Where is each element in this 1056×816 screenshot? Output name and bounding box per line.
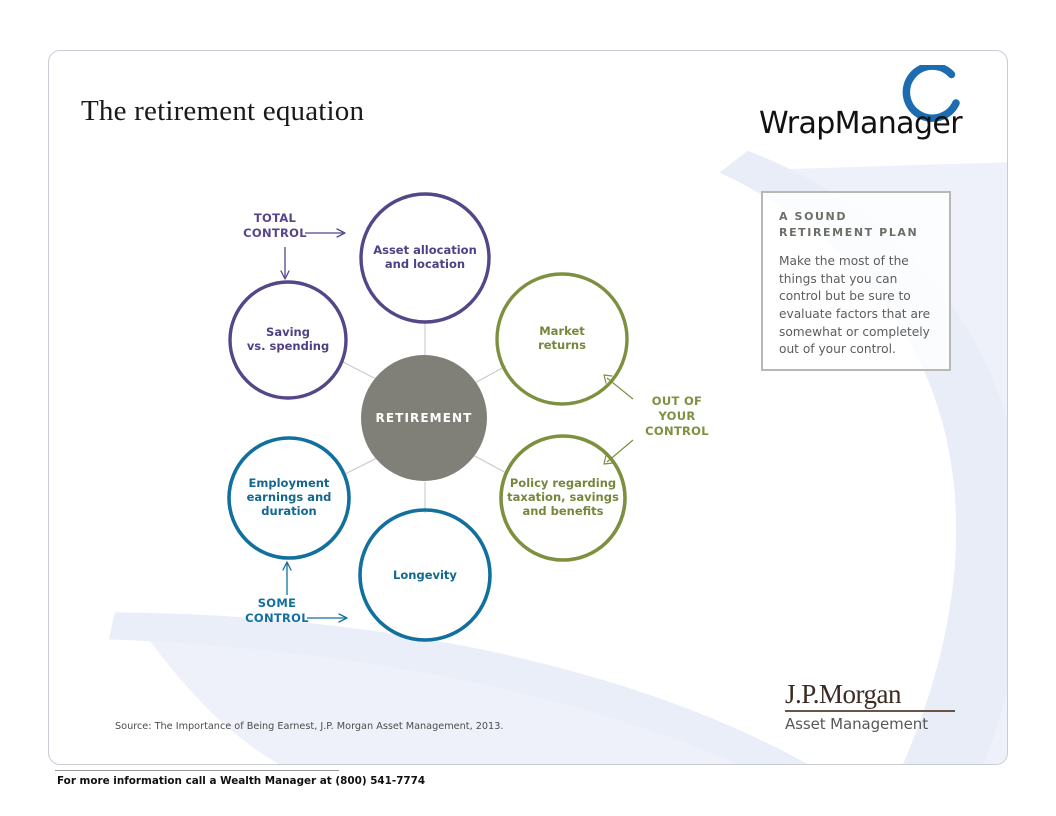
source-note: Source: The Importance of Being Earnest,… (115, 721, 503, 732)
node-circle-employment-earnings[interactable] (229, 438, 349, 558)
jpmorgan-wordmark: J.P.Morgan (785, 681, 955, 712)
connector-policy (473, 455, 508, 474)
node-circle-saving-vs-spending[interactable] (230, 282, 346, 398)
jpmorgan-logo: J.P.Morgan Asset Management (785, 681, 955, 734)
control-label-total-control: TOTAL CONTROL (225, 211, 325, 241)
callout-title: A SOUND RETIREMENT PLAN (779, 209, 933, 241)
node-circle-longevity[interactable] (360, 510, 490, 640)
diagram-svg (49, 51, 1008, 765)
node-circle-asset-allocation[interactable] (361, 194, 489, 322)
footer-divider (55, 770, 339, 771)
control-label-some-control: SOME CONTROL (227, 596, 327, 626)
callout-body: Make the most of the things that you can… (779, 253, 933, 359)
control-label-out-of-your-control: OUT OF YOUR CONTROL (627, 394, 727, 439)
sound-retirement-plan-callout: A SOUND RETIREMENT PLAN Make the most of… (761, 191, 951, 371)
connector-saving (341, 361, 378, 380)
footer-contact-text: For more information call a Wealth Manag… (57, 775, 425, 787)
connector-employment (343, 457, 379, 475)
connector-market-returns (473, 366, 506, 384)
node-circle-retirement-center[interactable] (361, 355, 487, 481)
jpmorgan-tagline: Asset Management (785, 712, 955, 734)
node-circle-market-returns[interactable] (497, 274, 627, 404)
retirement-equation-diagram: Asset allocation and location Saving vs.… (49, 51, 1008, 765)
out-of-control-arrow-downleft-shaft (607, 440, 633, 462)
slide-canvas: The retirement equation WrapManager (48, 50, 1008, 765)
